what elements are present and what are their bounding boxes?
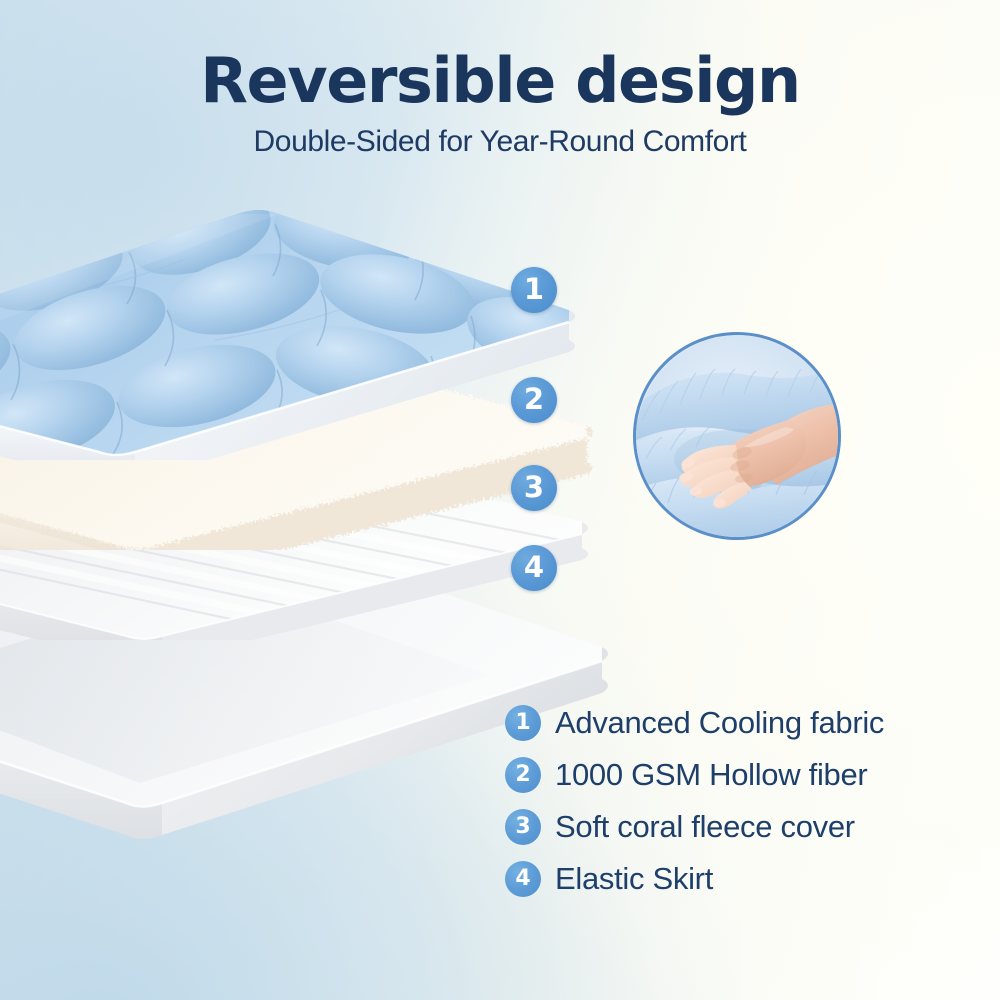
legend-label-1: Advanced Cooling fabric <box>555 705 884 741</box>
header: Reversible design Double-Sided for Year-… <box>0 48 1000 159</box>
list-item[interactable]: 1 Advanced Cooling fabric <box>505 697 975 749</box>
legend-label-2: 1000 GSM Hollow fiber <box>555 757 867 793</box>
legend-badge-4: 4 <box>505 861 541 897</box>
detail-inset-circle <box>633 332 841 540</box>
list-item[interactable]: 4 Elastic Skirt <box>505 853 975 905</box>
callout-badge-3[interactable]: 3 <box>511 465 557 511</box>
callout-badge-4[interactable]: 4 <box>511 545 557 591</box>
legend-badge-1: 1 <box>505 705 541 741</box>
legend-badge-2: 2 <box>505 757 541 793</box>
legend-badge-3: 3 <box>505 809 541 845</box>
list-item[interactable]: 2 1000 GSM Hollow fiber <box>505 749 975 801</box>
hand-pressing-topper-photo <box>636 335 841 540</box>
legend-label-3: Soft coral fleece cover <box>555 809 855 845</box>
legend-label-4: Elastic Skirt <box>555 861 713 897</box>
infographic-canvas: Reversible design Double-Sided for Year-… <box>0 0 1000 1000</box>
product-layer-cooling-fabric <box>0 190 585 460</box>
legend-list: 1 Advanced Cooling fabric 2 1000 GSM Hol… <box>505 697 975 905</box>
callout-badge-1[interactable]: 1 <box>511 267 557 313</box>
callout-badge-2[interactable]: 2 <box>511 377 557 423</box>
list-item[interactable]: 3 Soft coral fleece cover <box>505 801 975 853</box>
page-subtitle: Double-Sided for Year-Round Comfort <box>0 125 1000 159</box>
page-title: Reversible design <box>0 48 1000 113</box>
